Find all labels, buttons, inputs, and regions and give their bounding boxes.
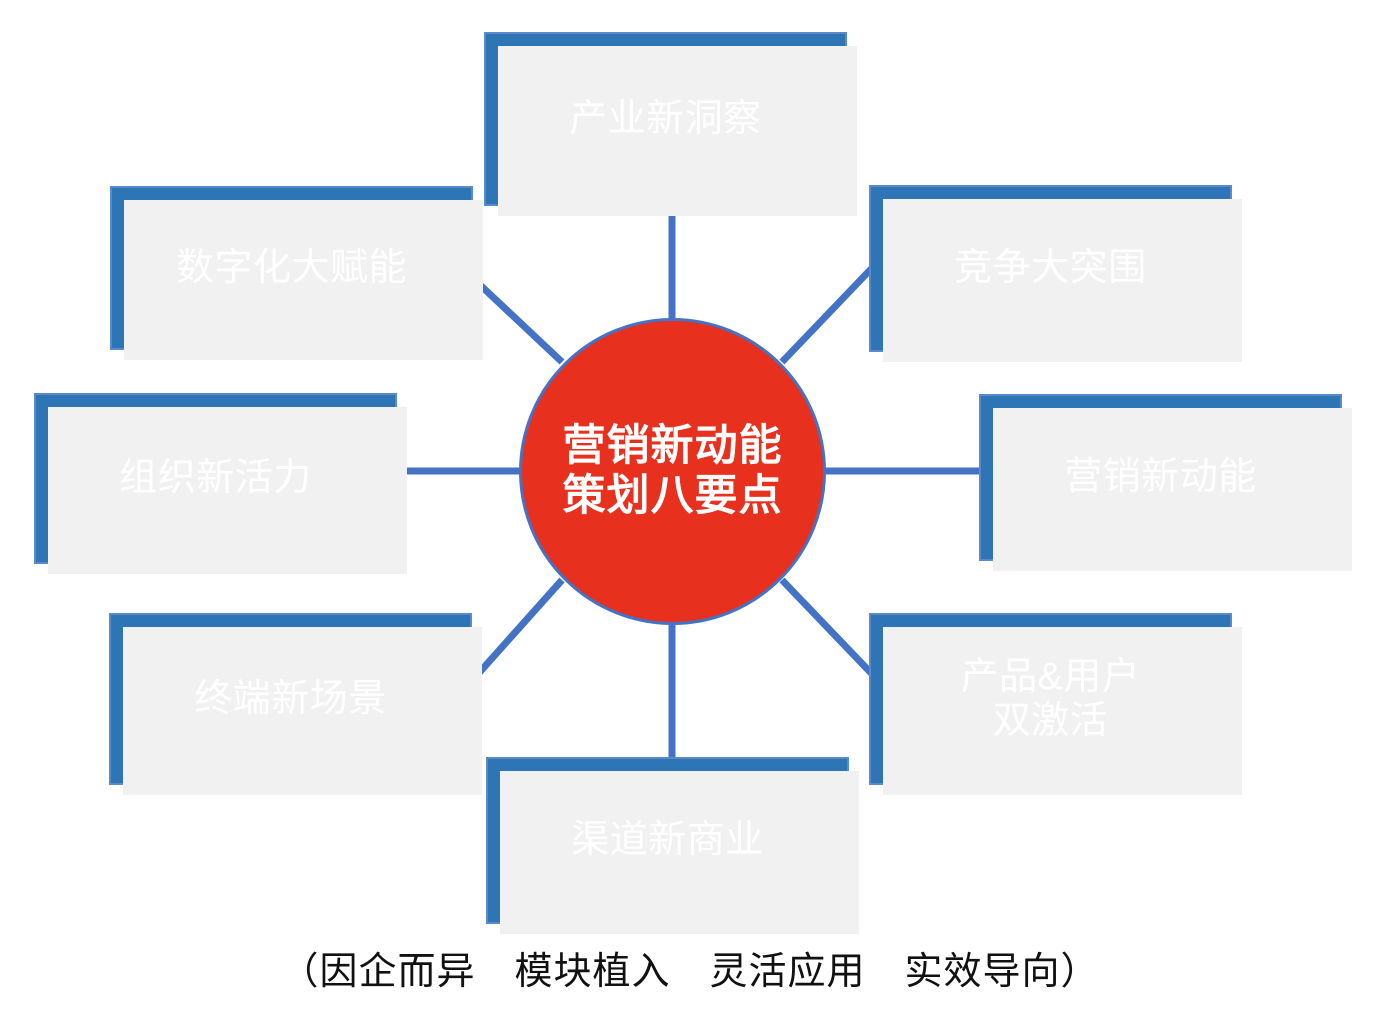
node-industry-insight[interactable]: 产业新洞察	[484, 32, 847, 206]
diagram-canvas: 产业新洞察 竞争大突围 营销新动能 产品&用户 双激活 渠道新商业 终端新场景 …	[0, 0, 1380, 1024]
connector-line-bottom-left	[478, 580, 562, 674]
node-label: 渠道新商业	[571, 818, 764, 862]
node-channel-new-business[interactable]: 渠道新商业	[486, 757, 849, 924]
node-label: 终端新场景	[194, 677, 387, 721]
connector-line-top-left	[478, 283, 562, 362]
node-competition-breakthrough[interactable]: 竞争大突围	[869, 185, 1232, 352]
connector-line-top-right	[782, 268, 872, 362]
node-label: 数字化大赋能	[176, 246, 407, 290]
node-label: 组织新活力	[119, 456, 312, 500]
connector-line-bottom-right	[782, 580, 872, 674]
node-label: 营销新动能	[1064, 455, 1257, 499]
hub-title-line-2: 策划八要点	[563, 472, 783, 522]
node-marketing-new-momentum[interactable]: 营销新动能	[979, 394, 1342, 561]
node-organization-new-vitality[interactable]: 组织新活力	[34, 393, 397, 564]
node-digital-empowerment[interactable]: 数字化大赋能	[110, 186, 473, 350]
node-label: 产业新洞察	[569, 97, 762, 141]
center-hub[interactable]: 营销新动能 策划八要点	[519, 318, 826, 625]
hub-title-line-1: 营销新动能	[563, 422, 783, 472]
node-terminal-new-scenario[interactable]: 终端新场景	[109, 613, 472, 785]
node-label: 竞争大突围	[954, 246, 1147, 290]
node-label: 产品&用户 双激活	[961, 655, 1141, 743]
diagram-caption: （因企而异 模块植入 灵活应用 实效导向）	[0, 940, 1380, 995]
node-product-user-activation[interactable]: 产品&用户 双激活	[869, 613, 1232, 785]
